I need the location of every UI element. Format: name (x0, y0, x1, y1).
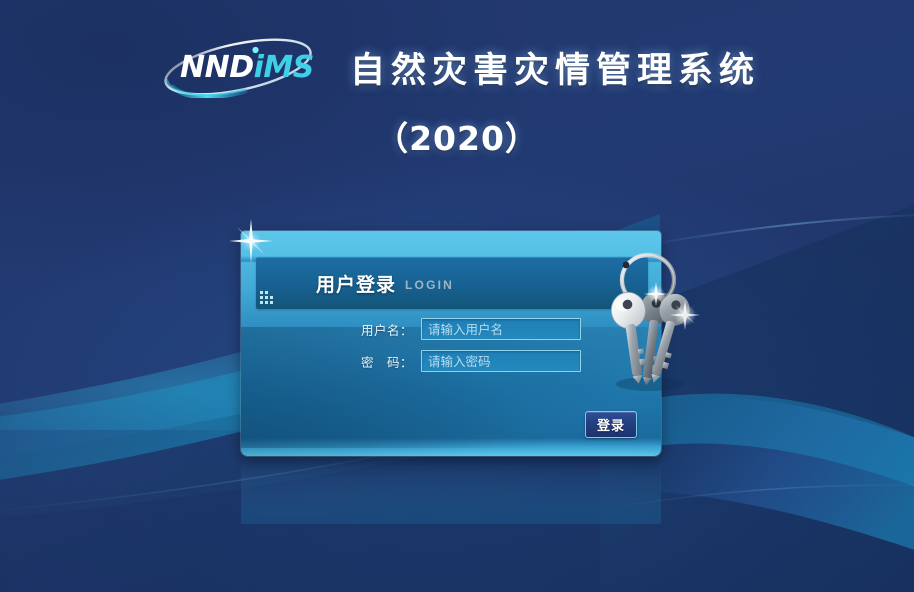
login-panel-subtitle: LOGIN (405, 278, 454, 292)
login-screen: NNDiMS 自然灾害灾情管理系统 （2020） 用户登录 LOGIN (0, 0, 914, 592)
username-label: 用户名： (351, 320, 413, 339)
login-panel-zone: 用户登录 LOGIN 用户名： (241, 231, 661, 456)
login-panel-header: 用户登录 LOGIN (256, 257, 648, 309)
title-row: NNDiMS 自然灾害灾情管理系统 (0, 38, 914, 96)
login-panel: 用户登录 LOGIN 用户名： (241, 231, 661, 456)
app-logo: NNDiMS (154, 36, 322, 98)
login-panel-title: 用户登录 (316, 270, 396, 297)
password-row: 密 码： (351, 350, 581, 372)
dot-grid-icon (260, 291, 276, 307)
login-button-row: 登录 (585, 411, 637, 438)
page-year: （2020） (0, 112, 914, 160)
logo-nnd-text: NNDiMS (180, 50, 314, 85)
login-submit-button[interactable]: 登录 (585, 411, 637, 438)
page-title: 自然灾害灾情管理系统 (344, 42, 760, 93)
password-label: 密 码： (351, 352, 413, 371)
username-row: 用户名： (351, 318, 581, 340)
page-header: NNDiMS 自然灾害灾情管理系统 （2020） (0, 0, 914, 160)
login-form: 用户名： 密 码： (351, 318, 581, 382)
password-input[interactable] (421, 350, 581, 372)
username-input[interactable] (421, 318, 581, 340)
panel-reflection (241, 458, 661, 524)
nndims-logo-icon: NNDiMS (154, 36, 322, 98)
